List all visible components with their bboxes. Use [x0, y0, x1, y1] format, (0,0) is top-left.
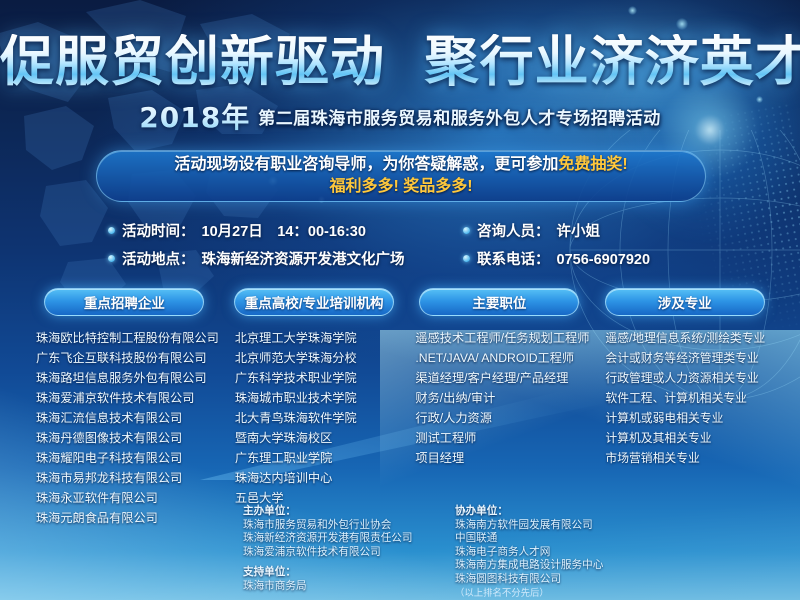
school-list: 北京理工大学珠海学院 北京师范大学珠海分校 广东科学技术职业学院 珠海城市职业技…	[229, 328, 400, 508]
bullet-dot-icon	[108, 227, 115, 234]
position-list: 遥感技术工程师/任务规划工程师 .NET/JAVA/ ANDROID工程师 渠道…	[409, 328, 589, 468]
list-item: 珠海爱浦京软件技术有限公司	[36, 388, 219, 408]
info-value: 珠海新经济资源开发港文化广场	[202, 248, 405, 269]
footer-note: （以上排名不分先后）	[455, 586, 603, 599]
list-item: 财务/出纳/审计	[415, 388, 589, 408]
promo-banner-highlight: 免费抽奖!	[558, 156, 627, 173]
list-item: 市场营销相关专业	[605, 448, 770, 468]
footer-block-organizers: 主办单位： 珠海市服务贸易和外包行业协会 珠海新经济资源开发港有限责任公司 珠海…	[243, 505, 413, 559]
info-item-location: 活动地点： 珠海新经济资源开发港文化广场	[108, 248, 463, 269]
major-list: 遥感/地理信息系统/测绘类专业 会计或财务等经济管理类专业 行政管理或人力资源相…	[599, 328, 770, 468]
list-item: 计算机及其相关专业	[605, 428, 770, 448]
list-item: 渠道经理/客户经理/产品经理	[415, 368, 589, 388]
footer-line: 珠海电子商务人才网	[455, 546, 603, 560]
event-subtitle: 第二届珠海市服务贸易和服务外包人才专场招聘活动	[258, 104, 661, 129]
column-title: 重点招聘企业	[84, 292, 165, 312]
list-item: 珠海市易邦龙科技有限公司	[36, 468, 219, 488]
promo-banner: 活动现场设有职业咨询导师，为你答疑解惑，更可参加免费抽奖! 福利多多! 奖品多多…	[96, 150, 706, 202]
footer-right-column: 协办单位： 珠海南方软件园发展有限公司 中国联通 珠海电子商务人才网 珠海南方集…	[455, 505, 603, 600]
list-item: .NET/JAVA/ ANDROID工程师	[415, 348, 589, 368]
list-item: 北京理工大学珠海学院	[235, 328, 400, 348]
list-item: 珠海达内培训中心	[235, 468, 400, 488]
bokeh-dot-icon	[676, 18, 688, 30]
list-item: 珠海丹德图像技术有限公司	[36, 428, 219, 448]
employer-list: 珠海欧比特控制工程股份有限公司 广东飞企互联科技股份有限公司 珠海路坦信息服务外…	[30, 328, 219, 528]
poster-canvas: 促服贸创新驱动 聚行业济济英才 2018年 第二届珠海市服务贸易和服务外包人才专…	[0, 0, 800, 600]
poster-headline: 促服贸创新驱动 聚行业济济英才	[0, 34, 800, 90]
list-item: 行政管理或人力资源相关专业	[605, 368, 770, 388]
list-item: 珠海城市职业技术学院	[235, 388, 400, 408]
list-item: 行政/人力资源	[415, 408, 589, 428]
promo-banner-line-1: 活动现场设有职业咨询导师，为你答疑解惑，更可参加免费抽奖!	[174, 154, 627, 176]
list-item: 珠海路坦信息服务外包有限公司	[36, 368, 219, 388]
bullet-dot-icon	[463, 255, 470, 262]
column-title: 涉及专业	[658, 292, 712, 312]
list-item: 计算机或弱电相关专业	[605, 408, 770, 428]
list-item: 暨南大学珠海校区	[235, 428, 400, 448]
list-item: 测试工程师	[415, 428, 589, 448]
info-item-phone: 联系电话： 0756-6907920	[463, 248, 698, 269]
footer-block-supporters: 支持单位： 珠海市商务局	[243, 566, 413, 593]
column-schools: 重点高校/专业培训机构 北京理工大学珠海学院 北京师范大学珠海分校 广东科学技术…	[229, 288, 400, 528]
list-item: 北京师范大学珠海分校	[235, 348, 400, 368]
footer-line: 珠海新经济资源开发港有限责任公司	[243, 532, 413, 546]
poster-subheadline: 2018年 第二届珠海市服务贸易和服务外包人才专场招聘活动	[0, 96, 800, 136]
column-header-schools: 重点高校/专业培训机构	[234, 288, 394, 316]
list-item: 广东科学技术职业学院	[235, 368, 400, 388]
info-value: 0756-6907920	[557, 252, 651, 268]
list-item: 珠海耀阳电子科技有限公司	[36, 448, 219, 468]
list-item: 会计或财务等经济管理类专业	[605, 348, 770, 368]
promo-banner-line-2: 福利多多! 奖品多多!	[329, 176, 472, 198]
poster-footer: 主办单位： 珠海市服务贸易和外包行业协会 珠海新经济资源开发港有限责任公司 珠海…	[0, 505, 800, 600]
list-item: 项目经理	[415, 448, 589, 468]
list-item: 广东理工职业学院	[235, 448, 400, 468]
list-item: 北大青鸟珠海软件学院	[235, 408, 400, 428]
info-value: 10月27日 14：00-16:30	[202, 220, 366, 241]
footer-line: 珠海南方集成电路设计服务中心	[455, 559, 603, 573]
column-header-key-employers: 重点招聘企业	[44, 288, 204, 316]
bullet-dot-icon	[463, 227, 470, 234]
footer-line: 中国联通	[455, 532, 603, 546]
info-item-time: 活动时间： 10月27日 14：00-16:30	[108, 220, 463, 241]
bokeh-dot-icon	[628, 6, 637, 15]
column-title: 主要职位	[472, 292, 526, 312]
footer-title: 支持单位：	[243, 566, 413, 580]
event-info-grid: 活动时间： 10月27日 14：00-16:30 咨询人员： 许小姐 活动地点：…	[108, 220, 698, 269]
footer-line: 珠海南方软件园发展有限公司	[455, 519, 603, 533]
column-key-employers: 重点招聘企业 珠海欧比特控制工程股份有限公司 广东飞企互联科技股份有限公司 珠海…	[30, 288, 219, 528]
event-year: 2018年	[139, 96, 250, 136]
info-item-contact-person: 咨询人员： 许小姐	[463, 220, 698, 241]
footer-left-column: 主办单位： 珠海市服务贸易和外包行业协会 珠海新经济资源开发港有限责任公司 珠海…	[243, 505, 413, 600]
footer-line: 珠海圆图科技有限公司	[455, 573, 603, 587]
promo-banner-text: 活动现场设有职业咨询导师，为你答疑解惑，更可参加	[174, 156, 558, 173]
list-item: 遥感技术工程师/任务规划工程师	[415, 328, 589, 348]
column-header-majors: 涉及专业	[605, 288, 765, 316]
content-columns: 重点招聘企业 珠海欧比特控制工程股份有限公司 广东飞企互联科技股份有限公司 珠海…	[30, 288, 770, 528]
footer-line: 珠海爱浦京软件技术有限公司	[243, 546, 413, 560]
column-positions: 主要职位 遥感技术工程师/任务规划工程师 .NET/JAVA/ ANDROID工…	[409, 288, 589, 528]
footer-line: 珠海市服务贸易和外包行业协会	[243, 519, 413, 533]
list-item: 珠海汇流信息技术有限公司	[36, 408, 219, 428]
list-item: 软件工程、计算机相关专业	[605, 388, 770, 408]
footer-line: 珠海市商务局	[243, 580, 413, 594]
info-label: 活动时间：	[122, 220, 195, 241]
column-header-positions: 主要职位	[419, 288, 579, 316]
list-item: 广东飞企互联科技股份有限公司	[36, 348, 219, 368]
info-value: 许小姐	[557, 220, 601, 241]
column-majors: 涉及专业 遥感/地理信息系统/测绘类专业 会计或财务等经济管理类专业 行政管理或…	[599, 288, 770, 528]
footer-title: 主办单位：	[243, 505, 413, 519]
list-item: 珠海欧比特控制工程股份有限公司	[36, 328, 219, 348]
info-label: 联系电话：	[477, 248, 550, 269]
column-title: 重点高校/专业培训机构	[245, 292, 384, 312]
bullet-dot-icon	[108, 255, 115, 262]
footer-title: 协办单位：	[455, 505, 603, 519]
info-label: 咨询人员：	[477, 220, 550, 241]
list-item: 遥感/地理信息系统/测绘类专业	[605, 328, 770, 348]
footer-block-co-organizers: 协办单位： 珠海南方软件园发展有限公司 中国联通 珠海电子商务人才网 珠海南方集…	[455, 505, 603, 599]
info-label: 活动地点：	[122, 248, 195, 269]
